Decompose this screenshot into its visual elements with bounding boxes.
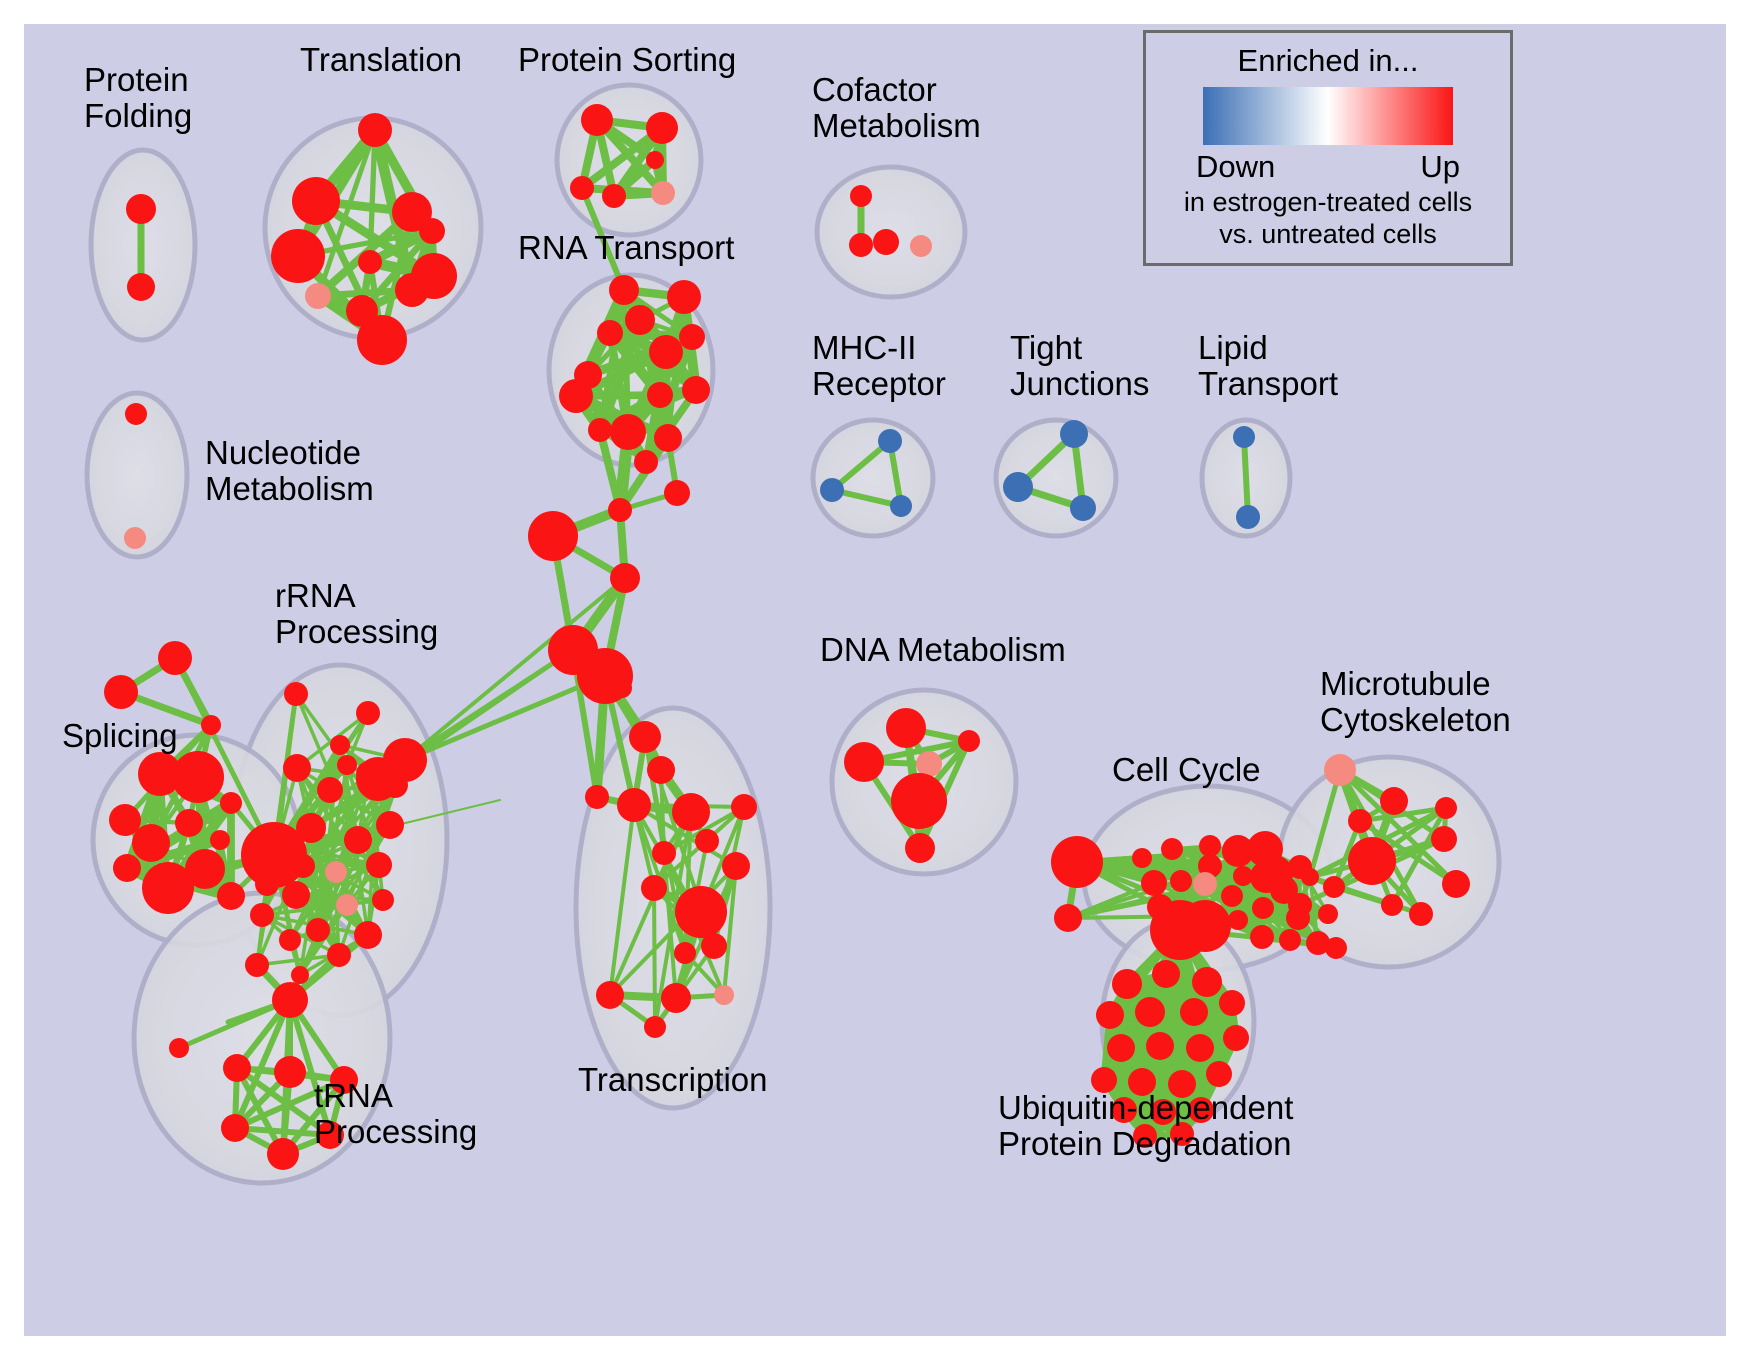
network-node[interactable]: [1192, 967, 1222, 997]
network-node[interactable]: [1146, 1032, 1174, 1060]
cluster-label: Ubiquitin-dependent Protein Degradation: [998, 1090, 1293, 1161]
network-node[interactable]: [625, 305, 655, 335]
enrichment-map-figure: Protein FoldingTranslationProtein Sortin…: [0, 0, 1750, 1360]
network-node[interactable]: [641, 875, 667, 901]
network-node[interactable]: [1170, 870, 1192, 892]
network-node[interactable]: [169, 1038, 189, 1058]
network-node[interactable]: [667, 280, 701, 314]
network-node[interactable]: [291, 966, 309, 984]
legend-high-label: Up: [1420, 149, 1460, 185]
network-node[interactable]: [910, 235, 932, 257]
network-node[interactable]: [609, 275, 639, 305]
network-node[interactable]: [731, 794, 757, 820]
cluster-label: RNA Transport: [518, 230, 734, 266]
network-node[interactable]: [1409, 902, 1433, 926]
network-node[interactable]: [1324, 754, 1356, 786]
network-node[interactable]: [1161, 838, 1183, 860]
network-node[interactable]: [125, 403, 147, 425]
network-node[interactable]: [1223, 1025, 1249, 1051]
network-node[interactable]: [1301, 868, 1319, 886]
network-node[interactable]: [1233, 426, 1255, 448]
network-node[interactable]: [617, 788, 651, 822]
network-node[interactable]: [905, 833, 935, 863]
network-node[interactable]: [1288, 893, 1312, 917]
cluster-label: MHC-II Receptor: [812, 330, 946, 401]
network-node[interactable]: [891, 773, 947, 829]
network-node[interactable]: [358, 250, 382, 274]
network-node[interactable]: [661, 983, 691, 1013]
network-node[interactable]: [850, 185, 872, 207]
network-node[interactable]: [679, 324, 705, 350]
network-node[interactable]: [844, 742, 884, 782]
network-node[interactable]: [327, 943, 351, 967]
network-node[interactable]: [1380, 787, 1408, 815]
cluster-label: Nucleotide Metabolism: [205, 435, 374, 506]
network-node[interactable]: [376, 811, 404, 839]
network-node[interactable]: [597, 320, 623, 346]
network-node[interactable]: [878, 429, 902, 453]
network-node[interactable]: [664, 480, 690, 506]
cluster-label: Transcription: [578, 1062, 768, 1098]
network-node[interactable]: [1152, 960, 1180, 988]
cluster-label: Cofactor Metabolism: [812, 72, 981, 143]
network-node[interactable]: [647, 382, 673, 408]
color-gradient-bar: [1203, 87, 1453, 145]
network-node[interactable]: [1221, 885, 1243, 907]
network-node[interactable]: [682, 376, 710, 404]
network-node[interactable]: [610, 563, 640, 593]
network-node[interactable]: [873, 229, 899, 255]
network-node[interactable]: [612, 678, 632, 698]
network-node[interactable]: [1135, 997, 1165, 1027]
network-node[interactable]: [284, 682, 308, 706]
network-node[interactable]: [1381, 894, 1403, 916]
network-edge: [654, 888, 655, 1027]
network-node[interactable]: [127, 273, 155, 301]
network-node[interactable]: [596, 981, 624, 1009]
network-node[interactable]: [201, 715, 221, 735]
network-node[interactable]: [383, 738, 427, 782]
network-node[interactable]: [588, 418, 612, 442]
network-node[interactable]: [1193, 872, 1217, 896]
network-node[interactable]: [210, 830, 230, 850]
network-node[interactable]: [344, 826, 372, 854]
network-node[interactable]: [1141, 870, 1167, 896]
network-node[interactable]: [272, 982, 308, 1018]
network-node[interactable]: [1325, 937, 1347, 959]
network-node[interactable]: [372, 889, 394, 911]
network-node[interactable]: [283, 754, 311, 782]
network-node[interactable]: [644, 1016, 666, 1038]
network-node[interactable]: [695, 829, 719, 853]
network-node[interactable]: [419, 218, 445, 244]
network-node[interactable]: [330, 735, 350, 755]
network-node[interactable]: [675, 886, 727, 938]
network-node[interactable]: [279, 929, 301, 951]
network-node[interactable]: [1250, 925, 1274, 949]
network-node[interactable]: [317, 777, 343, 803]
network-node[interactable]: [220, 792, 242, 814]
network-node[interactable]: [1180, 998, 1208, 1026]
network-node[interactable]: [602, 184, 626, 208]
network-node[interactable]: [1219, 990, 1245, 1016]
network-node[interactable]: [223, 1054, 251, 1082]
network-node[interactable]: [1054, 904, 1082, 932]
network-node[interactable]: [646, 112, 678, 144]
network-node[interactable]: [1096, 1001, 1124, 1029]
network-node[interactable]: [652, 841, 676, 865]
network-node[interactable]: [649, 335, 683, 369]
cluster-label: Tight Junctions: [1010, 330, 1149, 401]
network-node[interactable]: [1435, 797, 1457, 819]
network-node[interactable]: [1107, 1034, 1135, 1062]
network-node[interactable]: [1060, 420, 1088, 448]
network-node[interactable]: [629, 721, 661, 753]
network-node[interactable]: [250, 903, 274, 927]
network-node[interactable]: [528, 511, 578, 561]
network-node[interactable]: [104, 675, 138, 709]
network-edge: [1244, 437, 1248, 517]
network-node[interactable]: [1003, 472, 1033, 502]
network-node[interactable]: [820, 478, 844, 502]
network-node[interactable]: [1431, 826, 1457, 852]
network-node[interactable]: [610, 414, 646, 450]
network-node[interactable]: [217, 882, 245, 910]
network-node[interactable]: [714, 985, 734, 1005]
network-node[interactable]: [1206, 1061, 1232, 1087]
network-node[interactable]: [132, 824, 170, 862]
network-node[interactable]: [646, 151, 664, 169]
network-node[interactable]: [722, 852, 750, 880]
network-node[interactable]: [585, 785, 609, 809]
network-node[interactable]: [1228, 910, 1248, 930]
network-node[interactable]: [1233, 866, 1253, 886]
network-node[interactable]: [1179, 900, 1231, 952]
cluster-label: Translation: [300, 42, 462, 78]
network-node[interactable]: [1070, 495, 1096, 521]
network-node[interactable]: [354, 921, 382, 949]
legend-subtitle-line2: vs. untreated cells: [1184, 219, 1472, 251]
legend-title: Enriched in...: [1238, 43, 1419, 79]
network-node[interactable]: [647, 756, 675, 784]
gradient-endpoint-labels: Down Up: [1196, 149, 1460, 185]
network-node[interactable]: [175, 809, 203, 837]
network-node[interactable]: [124, 527, 146, 549]
network-node[interactable]: [581, 104, 613, 136]
network-node[interactable]: [1255, 855, 1293, 893]
network-node[interactable]: [158, 641, 192, 675]
network-node[interactable]: [1348, 837, 1396, 885]
network-node[interactable]: [634, 450, 658, 474]
cluster-label: tRNA Processing: [314, 1078, 477, 1149]
cluster-label: Cell Cycle: [1112, 752, 1261, 788]
network-node[interactable]: [651, 181, 675, 205]
legend-low-label: Down: [1196, 149, 1275, 185]
network-node[interactable]: [241, 822, 307, 888]
network-node[interactable]: [305, 283, 331, 309]
network-node[interactable]: [1132, 848, 1152, 868]
network-node[interactable]: [559, 379, 593, 413]
cluster-label: Lipid Transport: [1198, 330, 1338, 401]
network-node[interactable]: [221, 1114, 249, 1142]
legend-subtitle: in estrogen-treated cells vs. untreated …: [1184, 187, 1472, 251]
cluster-label: Splicing: [62, 718, 178, 754]
network-node[interactable]: [142, 862, 194, 914]
network-node[interactable]: [1252, 897, 1274, 919]
legend-box: Enriched in... Down Up in estrogen-treat…: [1143, 30, 1513, 266]
network-node[interactable]: [1112, 969, 1142, 999]
network-node[interactable]: [958, 730, 980, 752]
network-node[interactable]: [1199, 835, 1221, 857]
network-node[interactable]: [126, 194, 156, 224]
network-node[interactable]: [267, 1138, 299, 1170]
cluster-label: DNA Metabolism: [820, 632, 1066, 668]
network-node[interactable]: [292, 177, 340, 225]
network-node[interactable]: [1236, 505, 1260, 529]
network-node[interactable]: [1051, 836, 1103, 888]
network-node[interactable]: [337, 755, 357, 775]
cluster-label: Protein Sorting: [518, 42, 736, 78]
network-node[interactable]: [356, 701, 380, 725]
network-node[interactable]: [1318, 904, 1338, 924]
cluster-label: rRNA Processing: [275, 578, 438, 649]
network-node[interactable]: [570, 176, 594, 200]
network-node[interactable]: [245, 953, 269, 977]
network-node[interactable]: [411, 253, 457, 299]
network-node[interactable]: [1279, 929, 1301, 951]
network-node[interactable]: [701, 933, 727, 959]
cluster-label: Protein Folding: [84, 62, 192, 133]
network-node[interactable]: [1442, 870, 1470, 898]
network-node[interactable]: [366, 852, 392, 878]
network-node[interactable]: [654, 424, 682, 452]
network-node[interactable]: [357, 315, 407, 365]
network-node[interactable]: [672, 793, 710, 831]
cluster-label: Microtubule Cytoskeleton: [1320, 666, 1511, 737]
network-node[interactable]: [1323, 876, 1345, 898]
cluster-blob: [813, 420, 933, 536]
network-node[interactable]: [271, 229, 325, 283]
network-node[interactable]: [608, 498, 632, 522]
network-node[interactable]: [849, 233, 873, 257]
network-node[interactable]: [1348, 809, 1372, 833]
network-node[interactable]: [306, 918, 330, 942]
network-node[interactable]: [325, 861, 347, 883]
network-node[interactable]: [1186, 1034, 1214, 1062]
network-node[interactable]: [890, 495, 912, 517]
network-node[interactable]: [113, 854, 141, 882]
network-node[interactable]: [172, 751, 224, 803]
network-node[interactable]: [674, 942, 696, 964]
network-node[interactable]: [886, 708, 926, 748]
network-node[interactable]: [358, 113, 392, 147]
network-node[interactable]: [336, 894, 358, 916]
network-node[interactable]: [274, 1056, 306, 1088]
legend-subtitle-line1: in estrogen-treated cells: [1184, 187, 1472, 219]
